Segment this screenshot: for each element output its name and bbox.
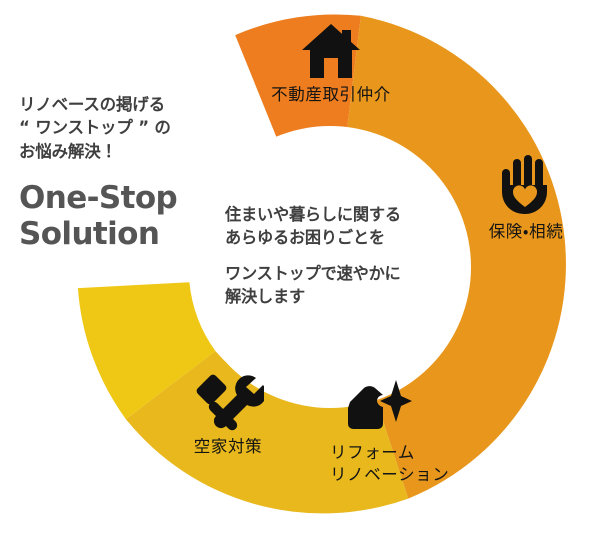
segment-label-text-akiya: 空家対策: [158, 436, 298, 458]
hand-heart-icon: [498, 155, 554, 217]
segment-label-text-reform-2: リノベーション: [330, 464, 498, 486]
segment-label-akiya[interactable]: 空家対策: [158, 370, 298, 458]
infographic-canvas: リノベースの掲げる “ ワンストップ ” の お悩み解決！ One-Stop S…: [0, 0, 600, 533]
left-heading-block: リノベースの掲げる “ ワンストップ ” の お悩み解決！ One-Stop S…: [19, 93, 234, 253]
center-para2-line1: ワンストップで速やかに: [225, 262, 457, 285]
center-para1-line2: あらゆるお困りごとを: [225, 226, 457, 249]
center-para1-line1: 住まいや暮らしに関する: [225, 203, 457, 226]
brand-title-line-2: Solution: [19, 217, 234, 253]
segment-label-reform[interactable]: リフォーム リノベーション: [330, 378, 498, 486]
page-title: One-Stop Solution: [19, 181, 234, 253]
center-description: 住まいや暮らしに関する あらゆるお困りごとを ワンストップで速やかに 解決します: [225, 203, 457, 308]
segment-label-text-insurance: 保険・相続: [462, 221, 590, 243]
segment-label-real-estate[interactable]: 不動産取引仲介: [238, 22, 424, 106]
house-icon: [300, 22, 362, 80]
segment-label-insurance[interactable]: 保険・相続: [462, 155, 590, 243]
lead-line-2: “ ワンストップ ” の: [19, 116, 234, 139]
segment-label-text-reform-1: リフォーム: [330, 442, 498, 464]
sparkle-house-icon: [336, 378, 412, 438]
center-para2-line2: 解決します: [225, 285, 457, 308]
brand-title-line-1: One-Stop: [19, 181, 234, 217]
lead-line-3: お悩み解決！: [19, 140, 234, 163]
hammer-wrench-icon: [192, 370, 264, 432]
lead-line-1: リノベースの掲げる: [19, 93, 234, 116]
segment-label-text-real-estate: 不動産取引仲介: [238, 84, 424, 106]
